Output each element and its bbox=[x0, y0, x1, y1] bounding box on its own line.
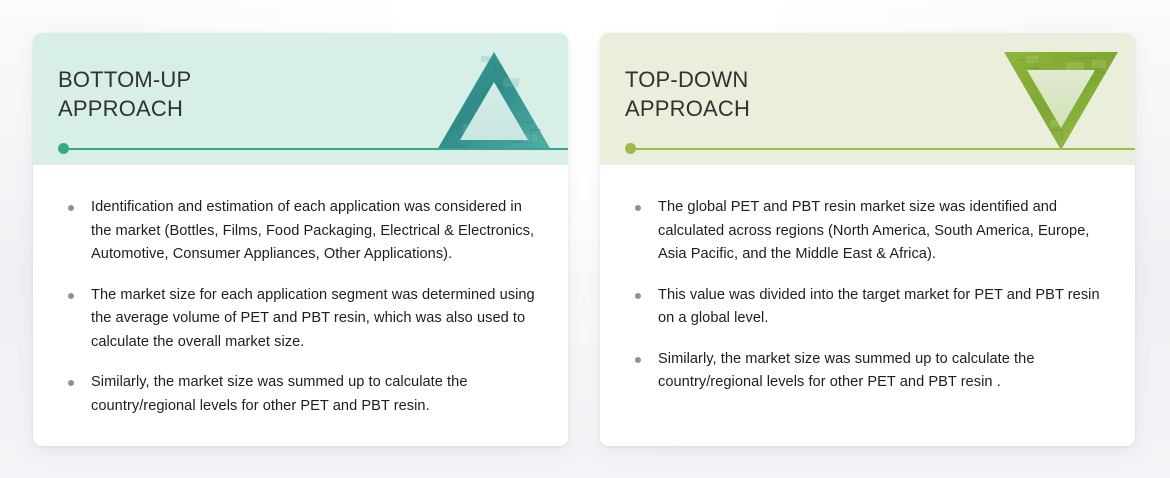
approach-comparison-board: BOTTOM-UP APPROACH Identification and es… bbox=[0, 0, 1170, 478]
top-down-card-header: TOP-DOWN APPROACH bbox=[600, 33, 1135, 165]
list-item-text: Similarly, the market size was summed up… bbox=[91, 374, 468, 414]
list-item: The global PET and PBT resin market size… bbox=[624, 196, 1111, 267]
top-down-bullet-list: The global PET and PBT resin market size… bbox=[624, 196, 1111, 395]
accent-dot bbox=[625, 143, 636, 154]
accent-line bbox=[63, 148, 568, 150]
top-down-approach-card: TOP-DOWN APPROACH The global PET and PBT… bbox=[600, 33, 1135, 446]
top-down-accent-rule bbox=[625, 143, 1135, 154]
bottom-up-approach-card: BOTTOM-UP APPROACH Identification and es… bbox=[33, 33, 568, 446]
bottom-up-accent-rule bbox=[58, 143, 568, 154]
bottom-up-card-header: BOTTOM-UP APPROACH bbox=[33, 33, 568, 165]
list-item-text: Similarly, the market size was summed up… bbox=[658, 351, 1035, 391]
list-item-text: This value was divided into the target m… bbox=[658, 287, 1100, 327]
list-item-text: The market size for each application seg… bbox=[91, 287, 535, 350]
bullet-dot-icon bbox=[635, 357, 641, 363]
accent-dot bbox=[58, 143, 69, 154]
bottom-up-title: BOTTOM-UP APPROACH bbox=[58, 65, 191, 123]
top-down-card-body: The global PET and PBT resin market size… bbox=[600, 165, 1135, 446]
bullet-dot-icon bbox=[635, 293, 641, 299]
bullet-dot-icon bbox=[68, 293, 74, 299]
list-item: This value was divided into the target m… bbox=[624, 284, 1111, 331]
list-item-text: Identification and estimation of each ap… bbox=[91, 199, 534, 262]
list-item: The market size for each application seg… bbox=[57, 284, 544, 355]
bullet-dot-icon bbox=[68, 380, 74, 386]
list-item: Similarly, the market size was summed up… bbox=[624, 348, 1111, 395]
triangle-down-icon bbox=[1000, 38, 1122, 160]
bottom-up-bullet-list: Identification and estimation of each ap… bbox=[57, 196, 544, 418]
accent-line bbox=[630, 148, 1135, 150]
bottom-up-card-body: Identification and estimation of each ap… bbox=[33, 165, 568, 446]
top-down-title: TOP-DOWN APPROACH bbox=[625, 65, 750, 123]
list-item: Identification and estimation of each ap… bbox=[57, 196, 544, 267]
bullet-dot-icon bbox=[635, 205, 641, 211]
triangle-up-icon bbox=[433, 38, 555, 160]
list-item: Similarly, the market size was summed up… bbox=[57, 371, 544, 418]
list-item-text: The global PET and PBT resin market size… bbox=[658, 199, 1089, 262]
bullet-dot-icon bbox=[68, 205, 74, 211]
